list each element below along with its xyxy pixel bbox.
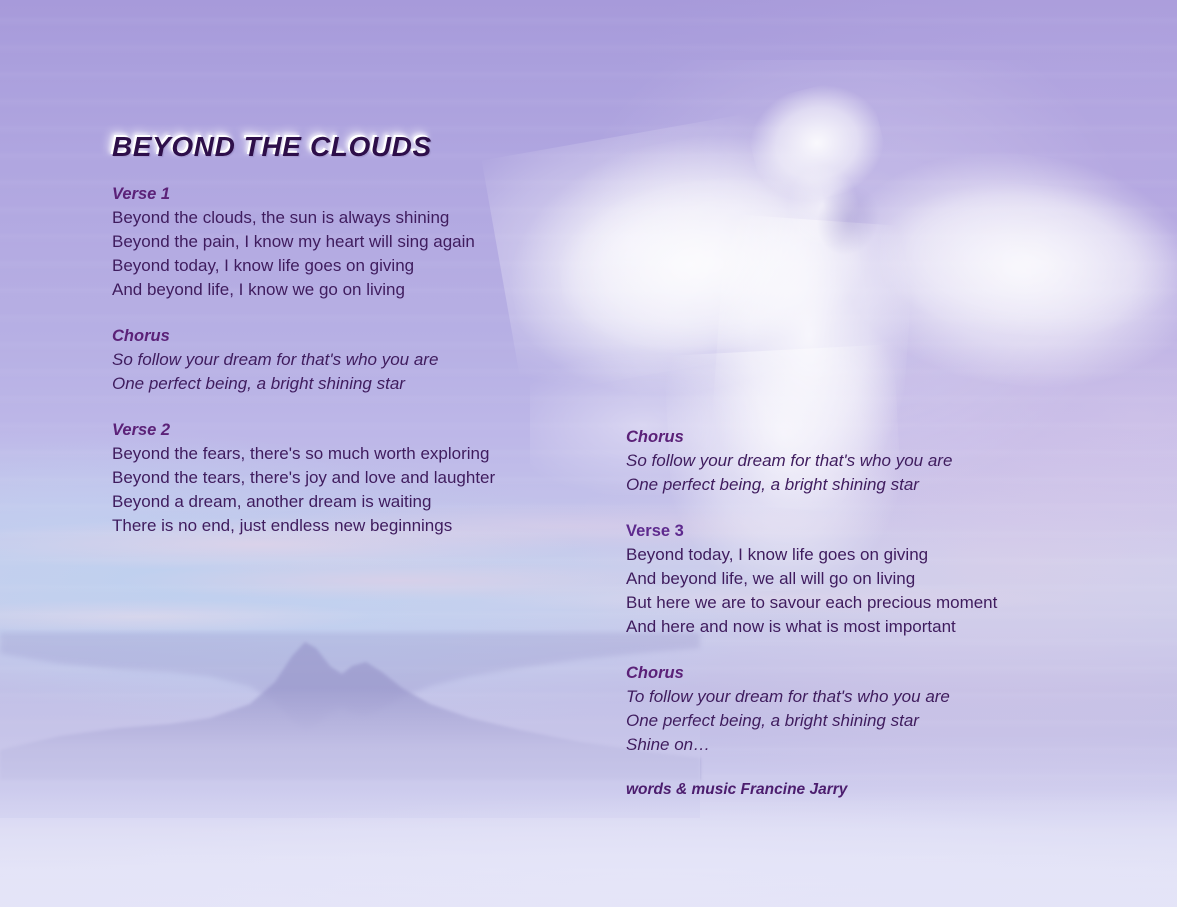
lyric-line: Beyond the clouds, the sun is always shi… [112,206,612,230]
credit-line: words & music Francine Jarry [626,779,1126,801]
lyric-line: Beyond today, I know life goes on giving [112,254,612,278]
lyric-line: To follow your dream for that's who you … [626,685,1126,709]
lyrics-layer: BEYOND THE CLOUDS Verse 1 Beyond the clo… [0,0,1177,907]
lyric-line: So follow your dream for that's who you … [626,449,1126,473]
section-heading: Chorus [112,324,612,348]
section-heading: Chorus [626,661,1126,685]
lyric-line: There is no end, just endless new beginn… [112,514,612,538]
lyric-line: So follow your dream for that's who you … [112,348,612,372]
lyric-line: Beyond the pain, I know my heart will si… [112,230,612,254]
section-heading: Chorus [626,425,1126,449]
section-verse-2: Verse 2 Beyond the fears, there's so muc… [112,418,612,538]
lyrics-column-left: Verse 1 Beyond the clouds, the sun is al… [112,182,612,538]
lyric-line: Shine on… [626,733,1126,757]
lyrics-column-right: Chorus So follow your dream for that's w… [626,425,1126,801]
section-heading: Verse 1 [112,182,612,206]
section-verse-3: Verse 3 Beyond today, I know life goes o… [626,519,1126,639]
lyric-line: Beyond the tears, there's joy and love a… [112,466,612,490]
lyric-line: But here we are to savour each precious … [626,591,1126,615]
lyric-line: And beyond life, I know we go on living [112,278,612,302]
section-chorus-1: Chorus So follow your dream for that's w… [112,324,612,396]
lyric-line: Beyond today, I know life goes on giving [626,543,1126,567]
section-chorus-3: Chorus To follow your dream for that's w… [626,661,1126,757]
lyric-line: One perfect being, a bright shining star [112,372,612,396]
section-verse-1: Verse 1 Beyond the clouds, the sun is al… [112,182,612,302]
lyric-line: Beyond a dream, another dream is waiting [112,490,612,514]
songwriter-credit: words & music Francine Jarry [626,779,1126,801]
lyric-slide: BEYOND THE CLOUDS Verse 1 Beyond the clo… [0,0,1177,907]
lyric-line: And beyond life, we all will go on livin… [626,567,1126,591]
lyric-line: One perfect being, a bright shining star [626,709,1126,733]
lyric-line: And here and now is what is most importa… [626,615,1126,639]
lyric-line: One perfect being, a bright shining star [626,473,1126,497]
section-chorus-2: Chorus So follow your dream for that's w… [626,425,1126,497]
section-heading: Verse 2 [112,418,612,442]
song-title: BEYOND THE CLOUDS [112,131,432,163]
lyric-line: Beyond the fears, there's so much worth … [112,442,612,466]
section-heading: Verse 3 [626,519,1126,543]
